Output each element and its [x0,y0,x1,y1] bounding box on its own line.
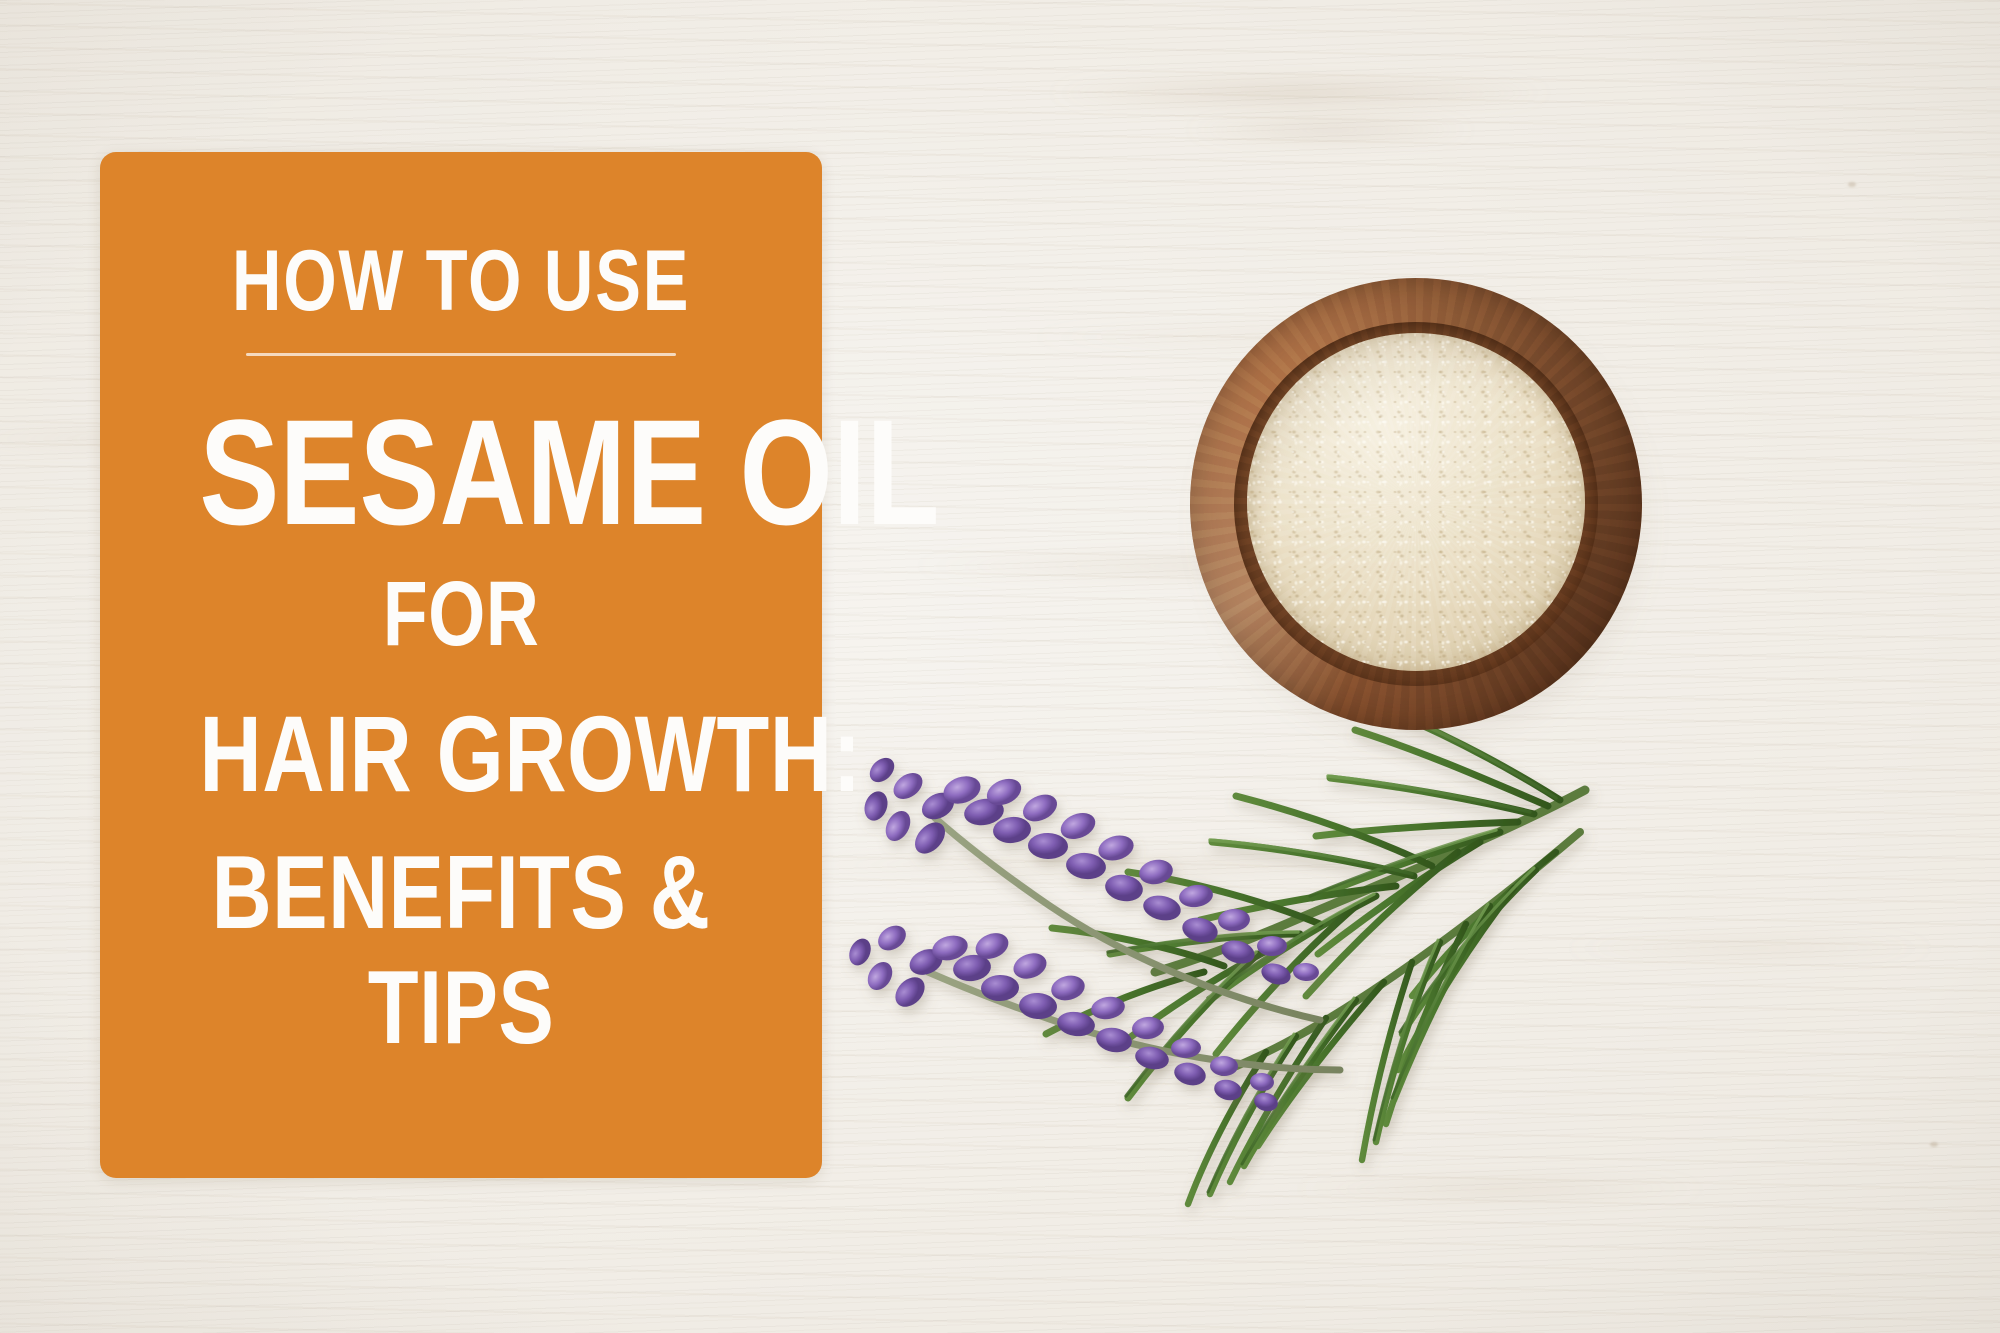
title-main: SESAME OIL [199,400,722,544]
title-tips: TIPS [199,959,722,1059]
title-connector: FOR [199,570,722,658]
title-eyebrow: HOW TO USE [199,240,722,323]
title-benefits: BENEFITS & [199,844,722,944]
title-subject: HAIR GROWTH: [199,702,722,806]
poster-canvas: HOW TO USE SESAME OIL FOR HAIR GROWTH: B… [0,0,2000,1333]
title-card: HOW TO USE SESAME OIL FOR HAIR GROWTH: B… [100,152,822,1178]
title-divider-rule [246,353,676,356]
